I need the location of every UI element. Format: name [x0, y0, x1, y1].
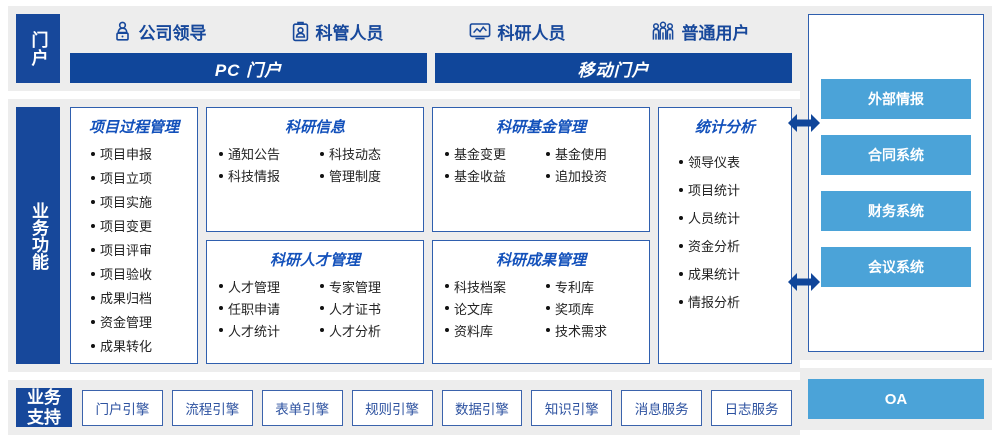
external-system-meeting[interactable]: 会议系统 [821, 247, 971, 287]
card-title: 科研信息 [213, 116, 417, 137]
card-item[interactable]: 成果归档 [91, 288, 191, 307]
external-systems-band: 外部情报 合同系统 财务系统 会议系统 [800, 6, 992, 360]
business-support-band-label: 业务支持 [16, 388, 72, 427]
business-function-band-label: 业务功能 [16, 107, 60, 364]
card-item-list: 领导仪表 项目统计 人员统计 资金分析 成果统计 情报分析 [665, 152, 785, 311]
external-system-oa[interactable]: OA [808, 379, 984, 419]
monitor-chart-icon [469, 21, 491, 41]
engine-portal[interactable]: 门户引擎 [82, 390, 163, 426]
card-item[interactable]: 人才证书 [320, 299, 381, 318]
role-item-label: 科管人员 [316, 19, 384, 44]
card-item[interactable]: 资金分析 [679, 236, 785, 255]
card-column-information-talent: 科研信息 通知公告 科技动态 科技情报 管理制度 科研人才管理 人才管理 专家管… [206, 107, 424, 364]
card-item[interactable]: 项目评审 [91, 240, 191, 259]
card-item[interactable]: 人员统计 [679, 208, 785, 227]
role-item-label: 公司领导 [139, 19, 207, 44]
card-item-list: 项目申报 项目立项 项目实施 项目变更 项目评审 项目验收 成果归档 资金管理 … [77, 144, 191, 355]
external-system-finance[interactable]: 财务系统 [821, 191, 971, 231]
external-systems-panel: 外部情报 合同系统 财务系统 会议系统 [808, 14, 984, 352]
architecture-diagram: 门户 公司领导 [0, 0, 1000, 436]
group-users-icon [651, 21, 675, 41]
role-item-research-admin[interactable]: 科管人员 [292, 19, 384, 44]
portal-tab-mobile[interactable]: 移动门户 [435, 53, 792, 83]
portal-band-label-text: 门户 [28, 31, 47, 67]
card-item[interactable]: 成果转化 [91, 336, 191, 355]
card-item[interactable]: 基金使用 [546, 144, 607, 163]
card-item[interactable]: 领导仪表 [679, 152, 785, 171]
role-item-label: 科研人员 [498, 19, 566, 44]
card-item[interactable]: 项目验收 [91, 264, 191, 283]
card-item-list: 基金变更 基金使用 基金收益 追加投资 [439, 144, 643, 185]
role-item-researcher[interactable]: 科研人员 [469, 19, 566, 44]
card-column-fund-achievement: 科研基金管理 基金变更 基金使用 基金收益 追加投资 科研成果管理 科技档案 专… [432, 107, 650, 364]
card-title: 统计分析 [665, 116, 785, 137]
portal-tabs: PC 门户 移动门户 [70, 53, 792, 83]
portal-band-label: 门户 [16, 14, 60, 83]
left-column: 门户 公司领导 [0, 0, 800, 436]
card-item[interactable]: 专利库 [546, 277, 594, 296]
card-item[interactable]: 项目统计 [679, 180, 785, 199]
card-item[interactable]: 科技动态 [320, 144, 381, 163]
oa-band: OA [800, 368, 992, 430]
engine-list: 门户引擎 流程引擎 表单引擎 规则引擎 数据引擎 知识引擎 消息服务 日志服务 [82, 388, 792, 427]
card-title: 科研基金管理 [439, 116, 643, 137]
card-project-process-management[interactable]: 项目过程管理 项目申报 项目立项 项目实施 项目变更 项目评审 项目验收 成果归… [70, 107, 198, 364]
card-item[interactable]: 项目申报 [91, 144, 191, 163]
card-item[interactable]: 管理制度 [320, 166, 381, 185]
card-title: 科研人才管理 [213, 249, 417, 270]
card-item[interactable]: 追加投资 [546, 166, 607, 185]
id-badge-icon [292, 21, 309, 42]
card-item[interactable]: 项目变更 [91, 216, 191, 235]
service-message[interactable]: 消息服务 [621, 390, 702, 426]
card-item[interactable]: 情报分析 [679, 292, 785, 311]
engine-workflow[interactable]: 流程引擎 [172, 390, 253, 426]
card-item[interactable]: 技术需求 [546, 321, 607, 340]
card-statistical-analysis[interactable]: 统计分析 领导仪表 项目统计 人员统计 资金分析 成果统计 情报分析 [658, 107, 792, 364]
card-item[interactable]: 专家管理 [320, 277, 381, 296]
external-systems-column: 外部情报 合同系统 财务系统 会议系统 OA [800, 0, 1000, 436]
engine-rule[interactable]: 规则引擎 [352, 390, 433, 426]
role-item-company-leader[interactable]: 公司领导 [113, 19, 207, 44]
card-item[interactable]: 人才分析 [320, 321, 381, 340]
card-research-information[interactable]: 科研信息 通知公告 科技动态 科技情报 管理制度 [206, 107, 424, 232]
portal-tab-pc[interactable]: PC 门户 [70, 53, 427, 83]
business-support-band: 业务支持 门户引擎 流程引擎 表单引擎 规则引擎 数据引擎 知识引擎 消息服务 … [8, 380, 800, 435]
business-function-band: 业务功能 项目过程管理 项目申报 项目立项 项目实施 项目变更 项目评审 项目验… [8, 99, 800, 372]
card-item[interactable]: 项目实施 [91, 192, 191, 211]
card-research-fund-management[interactable]: 科研基金管理 基金变更 基金使用 基金收益 追加投资 [432, 107, 650, 232]
engine-data[interactable]: 数据引擎 [442, 390, 523, 426]
card-title: 项目过程管理 [77, 116, 191, 137]
card-item[interactable]: 通知公告 [219, 144, 280, 163]
card-item[interactable]: 成果统计 [679, 264, 785, 283]
card-item[interactable]: 人才统计 [219, 321, 280, 340]
card-item[interactable]: 奖项库 [546, 299, 594, 318]
portal-body: 公司领导 科管人员 [70, 14, 792, 83]
external-system-contract[interactable]: 合同系统 [821, 135, 971, 175]
card-item[interactable]: 任职申请 [219, 299, 280, 318]
card-item[interactable]: 项目立项 [91, 168, 191, 187]
external-system-intelligence[interactable]: 外部情报 [821, 79, 971, 119]
card-item-list: 通知公告 科技动态 科技情报 管理制度 [213, 144, 417, 185]
card-item[interactable]: 基金收益 [445, 166, 506, 185]
card-item[interactable]: 资料库 [445, 321, 493, 340]
service-log[interactable]: 日志服务 [711, 390, 792, 426]
role-item-label: 普通用户 [682, 19, 750, 44]
function-cards: 项目过程管理 项目申报 项目立项 项目实施 项目变更 项目评审 项目验收 成果归… [70, 107, 792, 364]
card-title: 科研成果管理 [439, 249, 643, 270]
role-list: 公司领导 科管人员 [70, 14, 792, 48]
card-item-list: 人才管理 专家管理 任职申请 人才证书 人才统计 人才分析 [213, 277, 417, 340]
business-function-band-label-text: 业务功能 [28, 202, 48, 270]
portal-band: 门户 公司领导 [8, 6, 800, 91]
card-item[interactable]: 基金变更 [445, 144, 506, 163]
leader-person-icon [113, 21, 132, 42]
card-item-list: 科技档案 专利库 论文库 奖项库 资料库 技术需求 [439, 277, 643, 340]
role-item-general-user[interactable]: 普通用户 [651, 19, 750, 44]
card-item[interactable]: 论文库 [445, 299, 493, 318]
card-item[interactable]: 资金管理 [91, 312, 191, 331]
card-research-achievement-management[interactable]: 科研成果管理 科技档案 专利库 论文库 奖项库 资料库 技术需求 [432, 240, 650, 365]
engine-form[interactable]: 表单引擎 [262, 390, 343, 426]
card-item[interactable]: 人才管理 [219, 277, 280, 296]
card-item[interactable]: 科技情报 [219, 166, 280, 185]
card-item[interactable]: 科技档案 [445, 277, 506, 296]
card-research-talent-management[interactable]: 科研人才管理 人才管理 专家管理 任职申请 人才证书 人才统计 人才分析 [206, 240, 424, 365]
engine-knowledge[interactable]: 知识引擎 [531, 390, 612, 426]
